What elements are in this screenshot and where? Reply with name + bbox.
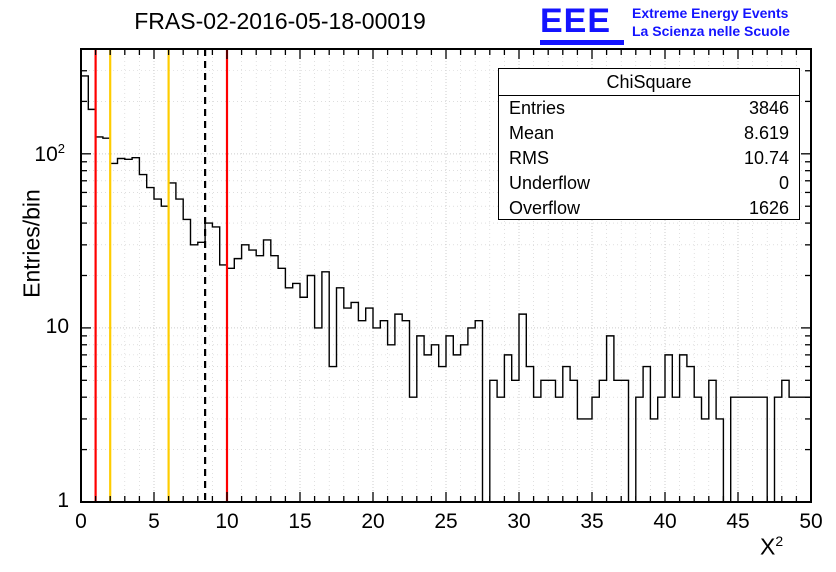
stats-header: ChiSquare	[499, 69, 799, 96]
stats-row-value: 1626	[749, 196, 789, 221]
y-tick-label: 102	[15, 141, 65, 167]
x-tick-label: 50	[791, 510, 831, 534]
stats-row: Mean8.619	[499, 121, 799, 146]
stats-row-label: Mean	[509, 121, 554, 146]
stats-row-label: Overflow	[509, 196, 580, 221]
x-tick-label: 5	[134, 510, 174, 534]
x-tick-label: 25	[426, 510, 466, 534]
stats-row: Underflow0	[499, 171, 799, 196]
y-tick-label: 10	[19, 315, 69, 339]
stats-row: Overflow1626	[499, 196, 799, 221]
y-tick-label: 1	[19, 489, 69, 513]
stats-row-value: 10.74	[744, 146, 789, 171]
x-tick-label: 20	[353, 510, 393, 534]
stats-row-label: Entries	[509, 96, 565, 121]
x-tick-label: 30	[499, 510, 539, 534]
stats-row-value: 3846	[749, 96, 789, 121]
stats-row-value: 0	[779, 171, 789, 196]
x-tick-label: 45	[718, 510, 758, 534]
x-tick-label: 15	[280, 510, 320, 534]
chart-page: FRAS-02-2016-05-18-00019 EEE Extreme Ene…	[0, 0, 836, 572]
stats-row: Entries3846	[499, 96, 799, 121]
x-tick-label: 0	[61, 510, 101, 534]
stats-row: RMS10.74	[499, 146, 799, 171]
stats-row-value: 8.619	[744, 121, 789, 146]
stats-row-label: RMS	[509, 146, 549, 171]
stats-row-label: Underflow	[509, 171, 590, 196]
stats-rows: Entries3846Mean8.619RMS10.74Underflow0Ov…	[499, 96, 799, 221]
x-tick-label: 40	[645, 510, 685, 534]
x-tick-label: 10	[207, 510, 247, 534]
x-tick-label: 35	[572, 510, 612, 534]
statistics-box: ChiSquare Entries3846Mean8.619RMS10.74Un…	[498, 68, 800, 220]
